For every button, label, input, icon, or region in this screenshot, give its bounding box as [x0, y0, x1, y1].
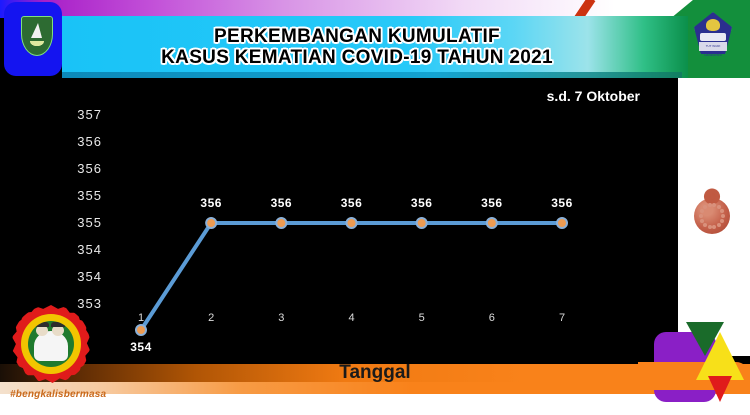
infographic-canvas: PERKEMBANGAN KUMULATIF KASUS KEMATIAN CO… — [0, 0, 750, 415]
page-title-line2: KASUS KEMATIAN COVID-19 TAHUN 2021 — [161, 47, 553, 68]
logo-book-icon — [700, 33, 726, 41]
data-point-label: 356 — [271, 196, 293, 210]
x-axis-tick-label: 5 — [419, 312, 425, 324]
logo-inner-disc — [28, 321, 74, 367]
data-point-label: 356 — [551, 196, 573, 210]
x-axis-tick-label: 3 — [278, 312, 284, 324]
bengkalis-badge-background — [4, 2, 62, 76]
logo-flame-icon — [706, 19, 720, 31]
virus-knob — [721, 214, 725, 218]
x-axis-tick-labels: 1234567 — [0, 312, 678, 332]
decorative-shapes-group — [648, 326, 750, 412]
hashtag-text: #bengkalisbermasa — [10, 389, 106, 400]
data-point-label: 356 — [411, 196, 433, 210]
logo-motto-text: TUT WURI HANDAYANI — [699, 42, 727, 51]
x-axis-tick-label: 6 — [489, 312, 495, 324]
data-point-label: 356 — [481, 196, 503, 210]
virus-knob — [699, 214, 703, 218]
data-point-label: 354 — [130, 340, 152, 354]
data-point-label: 356 — [341, 196, 363, 210]
data-point-label: 356 — [200, 196, 222, 210]
virus-knob — [700, 219, 704, 223]
virus-knob — [708, 203, 712, 207]
virus-knob — [708, 225, 712, 229]
x-axis-tick-label: 7 — [559, 312, 565, 324]
header-banner: PERKEMBANGAN KUMULATIF KASUS KEMATIAN CO… — [0, 0, 750, 80]
page-title-line1: PERKEMBANGAN KUMULATIF — [214, 26, 500, 47]
virus-knob — [717, 223, 721, 227]
kabupaten-bengkalis-logo-icon — [12, 305, 90, 383]
coronavirus-icon — [686, 190, 738, 242]
decorative-red-triangle — [708, 376, 732, 402]
footer-white-strip — [0, 394, 750, 415]
x-axis-tick-label: 4 — [348, 312, 354, 324]
logo-person-cap-left — [35, 322, 49, 327]
bengkalis-shield-emblem-icon — [21, 16, 53, 56]
tut-wuri-handayani-logo-icon: TUT WURI HANDAYANI — [694, 12, 732, 54]
chart-panel: s.d. 7 Oktober 357356356355355354354353 … — [0, 78, 678, 356]
x-axis-tick-label: 2 — [208, 312, 214, 324]
virus-knob — [720, 219, 724, 223]
logo-person-cap-right — [51, 322, 65, 327]
virus-knob — [703, 223, 707, 227]
page-title: PERKEMBANGAN KUMULATIF KASUS KEMATIAN CO… — [62, 18, 652, 76]
x-axis-tick-label: 1 — [138, 312, 144, 324]
plot-area: 357356356355355354354353 354356356356356… — [0, 78, 678, 356]
decorative-yellow-triangle — [696, 332, 744, 380]
